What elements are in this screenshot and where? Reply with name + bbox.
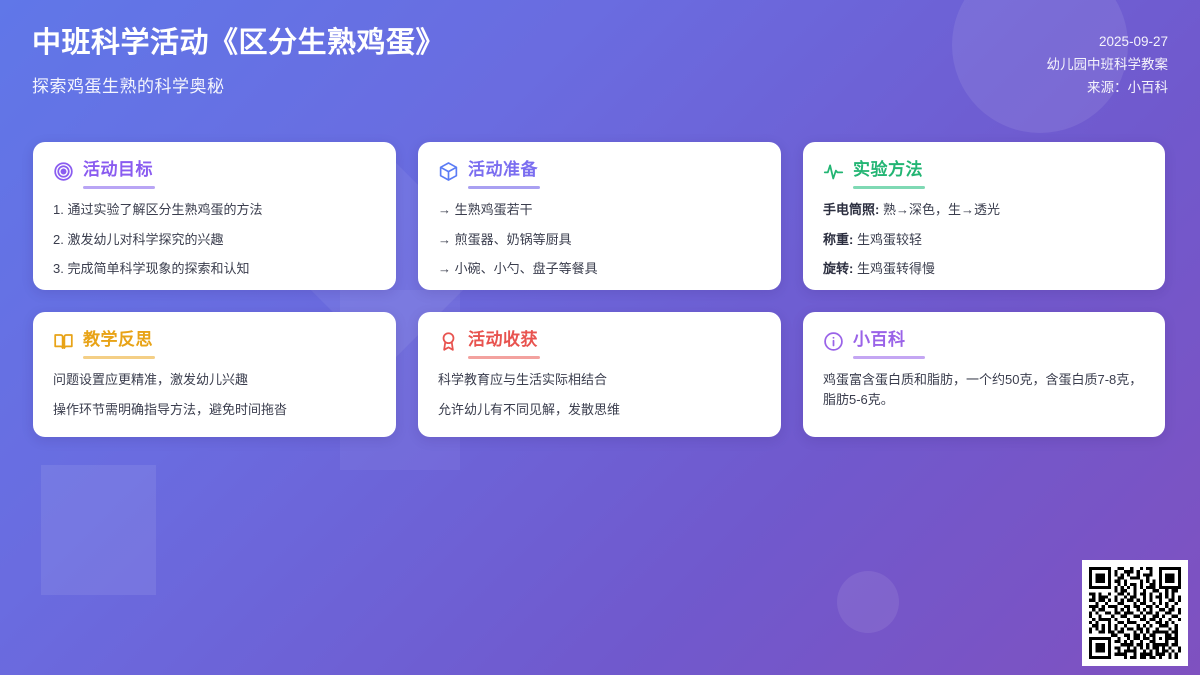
card-body: 1. 通过实验了解区分生熟鸡蛋的方法 2. 激发幼儿对科学探究的兴趣 3. 完成… xyxy=(53,200,376,279)
header-category: 幼儿园中班科学教案 xyxy=(1047,53,1169,76)
list-item-value: 熟→深色，生→透光 xyxy=(879,202,1000,217)
cube-icon xyxy=(438,161,459,182)
card-title: 小百科 xyxy=(853,330,906,352)
qr-code[interactable] xyxy=(1082,560,1188,666)
card-header: 小百科 xyxy=(823,330,1145,352)
card-header: 活动收获 xyxy=(438,330,761,352)
decorative-circle-bottom-center xyxy=(837,571,899,633)
card-body: 鸡蛋富含蛋白质和脂肪，一个约50克，含蛋白质7-8克，脂肪5-6克。 xyxy=(823,370,1145,409)
card-body: 手电筒照: 熟→深色，生→透光 称重: 生鸡蛋较轻 旋转: 生鸡蛋转得慢 xyxy=(823,200,1145,279)
activity-pulse-icon xyxy=(823,161,844,182)
card-title: 教学反思 xyxy=(83,330,153,352)
list-item: 科学教育应与生活实际相结合 xyxy=(438,370,761,390)
list-item: 手电筒照: 熟→深色，生→透光 xyxy=(823,200,1145,220)
card-title: 实验方法 xyxy=(853,160,923,182)
card-body: 问题设置应更精准，激发幼儿兴趣 操作环节需明确指导方法，避免时间拖沓 xyxy=(53,370,376,419)
card-mini-encyclopedia[interactable]: 小百科 鸡蛋富含蛋白质和脂肪，一个约50克，含蛋白质7-8克，脂肪5-6克。 xyxy=(803,312,1165,437)
list-item: 旋转: 生鸡蛋转得慢 xyxy=(823,259,1145,279)
card-title: 活动收获 xyxy=(468,330,538,352)
list-item-key: 称重: xyxy=(823,232,853,247)
card-teaching-reflection[interactable]: 教学反思 问题设置应更精准，激发幼儿兴趣 操作环节需明确指导方法，避免时间拖沓 xyxy=(33,312,396,437)
list-item: 1. 通过实验了解区分生熟鸡蛋的方法 xyxy=(53,200,376,220)
card-header: 活动准备 xyxy=(438,160,761,182)
poster-header: 中班科学活动《区分生熟鸡蛋》 探索鸡蛋生熟的科学奥秘 2025-09-27 幼儿… xyxy=(0,0,1200,128)
page-title: 中班科学活动《区分生熟鸡蛋》 xyxy=(32,24,445,63)
header-meta-block: 2025-09-27 幼儿园中班科学教案 来源：小百科 xyxy=(1047,30,1169,100)
header-date: 2025-09-27 xyxy=(1047,30,1169,53)
card-activity-goal[interactable]: 活动目标 1. 通过实验了解区分生熟鸡蛋的方法 2. 激发幼儿对科学探究的兴趣 … xyxy=(33,142,396,290)
list-item-value: 生鸡蛋较轻 xyxy=(853,232,922,247)
title-underline xyxy=(853,186,925,189)
info-circle-icon xyxy=(823,331,844,352)
card-grid: 活动目标 1. 通过实验了解区分生熟鸡蛋的方法 2. 激发幼儿对科学探究的兴趣 … xyxy=(33,142,1167,437)
card-activity-preparation[interactable]: 活动准备 → 生熟鸡蛋若干 → 煎蛋器、奶锅等厨具 → 小碗、小勺、盘子等餐具 xyxy=(418,142,781,290)
card-header: 实验方法 xyxy=(823,160,1145,182)
header-title-block: 中班科学活动《区分生熟鸡蛋》 探索鸡蛋生熟的科学奥秘 xyxy=(32,24,445,97)
card-title: 活动目标 xyxy=(83,160,153,182)
list-item: 鸡蛋富含蛋白质和脂肪，一个约50克，含蛋白质7-8克，脂肪5-6克。 xyxy=(823,370,1145,409)
award-icon xyxy=(438,331,459,352)
list-item: 允许幼儿有不同见解，发散思维 xyxy=(438,400,761,420)
poster-canvas: 中班科学活动《区分生熟鸡蛋》 探索鸡蛋生熟的科学奥秘 2025-09-27 幼儿… xyxy=(0,0,1200,675)
list-item-key: 手电筒照: xyxy=(823,202,879,217)
list-item: 称重: 生鸡蛋较轻 xyxy=(823,230,1145,250)
list-item: 3. 完成简单科学现象的探索和认知 xyxy=(53,259,376,279)
list-item: 操作环节需明确指导方法，避免时间拖沓 xyxy=(53,400,376,420)
book-open-icon xyxy=(53,331,74,352)
card-header: 活动目标 xyxy=(53,160,376,182)
list-item-value: 生鸡蛋转得慢 xyxy=(853,261,935,276)
list-item: → 小碗、小勺、盘子等餐具 xyxy=(438,259,761,279)
decorative-square-bottom-left xyxy=(41,465,156,595)
card-body: 科学教育应与生活实际相结合 允许幼儿有不同见解，发散思维 xyxy=(438,370,761,419)
title-underline xyxy=(83,356,155,359)
header-source: 来源：小百科 xyxy=(1047,76,1169,99)
list-item: 2. 激发幼儿对科学探究的兴趣 xyxy=(53,230,376,250)
card-body: → 生熟鸡蛋若干 → 煎蛋器、奶锅等厨具 → 小碗、小勺、盘子等餐具 xyxy=(438,200,761,279)
title-underline xyxy=(83,186,155,189)
card-title: 活动准备 xyxy=(468,160,538,182)
card-experiment-method[interactable]: 实验方法 手电筒照: 熟→深色，生→透光 称重: 生鸡蛋较轻 旋转: 生鸡蛋转得… xyxy=(803,142,1165,290)
qr-code-image xyxy=(1089,567,1181,659)
card-header: 教学反思 xyxy=(53,330,376,352)
title-underline xyxy=(468,356,540,359)
title-underline xyxy=(853,356,925,359)
list-item: 问题设置应更精准，激发幼儿兴趣 xyxy=(53,370,376,390)
page-subtitle: 探索鸡蛋生熟的科学奥秘 xyxy=(32,72,445,97)
target-icon xyxy=(53,161,74,182)
list-item: → 生熟鸡蛋若干 xyxy=(438,200,761,220)
card-activity-gain[interactable]: 活动收获 科学教育应与生活实际相结合 允许幼儿有不同见解，发散思维 xyxy=(418,312,781,437)
title-underline xyxy=(468,186,540,189)
list-item: → 煎蛋器、奶锅等厨具 xyxy=(438,230,761,250)
list-item-key: 旋转: xyxy=(823,261,853,276)
